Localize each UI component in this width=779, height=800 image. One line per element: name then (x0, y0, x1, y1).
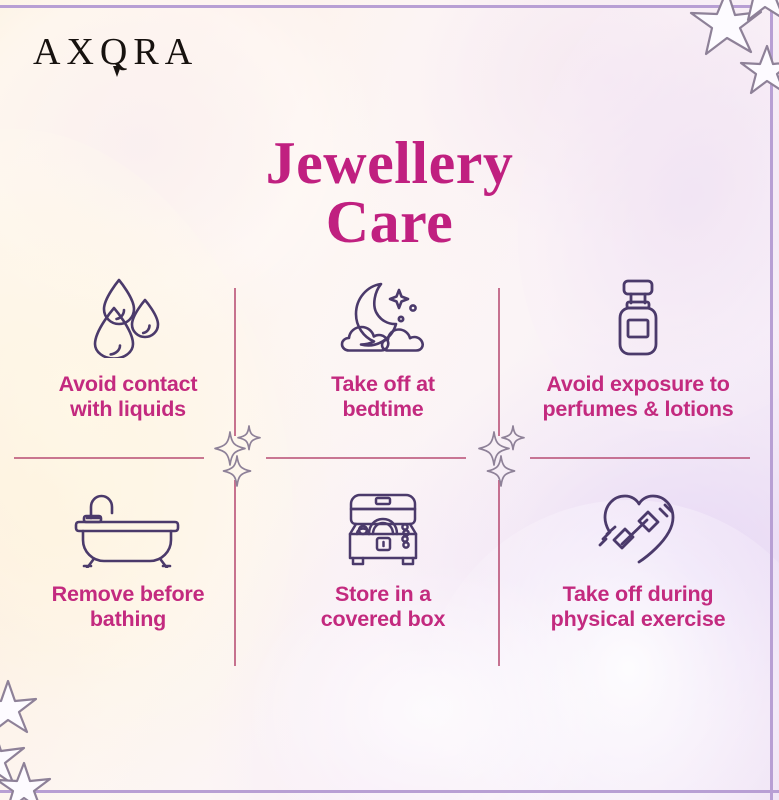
perfume-bottle-icon (512, 276, 764, 358)
caption-line-1: Store in a (335, 582, 431, 606)
heart-dumbbell-icon (512, 486, 764, 568)
care-tip-caption: Remove before bathing (2, 582, 254, 633)
caption-line-1: Avoid contact (59, 372, 198, 396)
care-tip-caption: Avoid contact with liquids (2, 372, 254, 423)
divider-horizontal-right (530, 457, 750, 459)
care-tip-caption: Take off during physical exercise (512, 582, 764, 633)
care-tip-item: Store in a covered box (257, 486, 509, 633)
divider-horizontal-left (14, 457, 204, 459)
care-tips-grid: Avoid contact with liquids Take off at b… (0, 272, 779, 692)
caption-line-2: bathing (90, 607, 166, 631)
title-line-2: Care (0, 193, 779, 252)
brand-logo: AXQRA (33, 33, 198, 71)
page-title: Jewellery Care (0, 134, 779, 252)
moon-clouds-stars-icon (257, 276, 509, 358)
title-line-1: Jewellery (266, 130, 514, 196)
border-line-bottom (0, 790, 779, 793)
caption-line-2: perfumes & lotions (542, 397, 733, 421)
care-tip-item: Avoid contact with liquids (2, 276, 254, 423)
caption-line-2: covered box (321, 607, 445, 631)
care-tip-caption: Store in a covered box (257, 582, 509, 633)
divider-horizontal-middle (266, 457, 466, 459)
care-tip-item: Remove before bathing (2, 486, 254, 633)
diamond-gem-icon (113, 66, 121, 77)
brand-name-q-letter: Q (100, 33, 133, 71)
caption-line-1: Remove before (52, 582, 205, 606)
caption-line-1: Take off during (563, 582, 714, 606)
caption-line-1: Avoid exposure to (546, 372, 729, 396)
five-point-stars-icon (679, 0, 779, 117)
care-tip-caption: Take off at bedtime (257, 372, 509, 423)
care-tip-item: Take off during physical exercise (512, 486, 764, 633)
jewellery-box-icon (257, 486, 509, 568)
caption-line-1: Take off at (331, 372, 435, 396)
caption-line-2: bedtime (342, 397, 423, 421)
jewellery-care-poster: AXQRA Jewellery Care (0, 0, 779, 800)
border-line-top (0, 5, 779, 8)
caption-line-2: with liquids (70, 397, 186, 421)
caption-line-2: physical exercise (551, 607, 726, 631)
water-drops-icon (2, 276, 254, 358)
care-tip-item: Avoid exposure to perfumes & lotions (512, 276, 764, 423)
brand-name-part1: AX (33, 33, 100, 71)
brand-name-part2: RA (133, 33, 198, 71)
care-tip-caption: Avoid exposure to perfumes & lotions (512, 372, 764, 423)
bathtub-icon (2, 486, 254, 568)
care-tip-item: Take off at bedtime (257, 276, 509, 423)
